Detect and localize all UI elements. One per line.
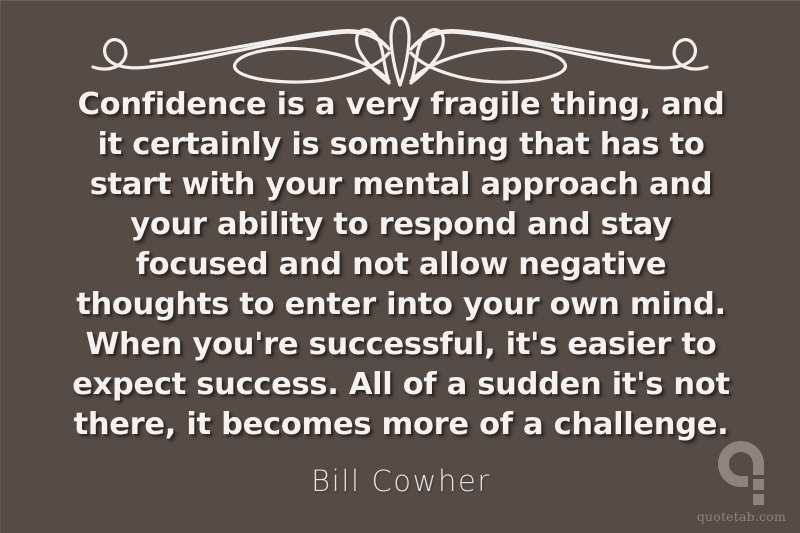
quote-line: start with your mental approach and	[23, 165, 779, 205]
quote-line: When you're successful, it's easier to	[23, 325, 779, 365]
decorative-flourish-icon	[1, 9, 800, 87]
author-name: Bill Cowher	[1, 464, 800, 498]
quote-line: expect success. All of a sudden it's not	[23, 365, 779, 405]
watermark-site-label: quotetab.com	[686, 509, 786, 524]
quote-line: your ability to respond and stay	[23, 205, 779, 245]
quote-line: thoughts to enter into your own mind.	[23, 285, 779, 325]
quote-card: Confidence is a very fragile thing, and …	[0, 0, 800, 533]
quotetab-logo-icon	[718, 441, 780, 507]
quote-text: Confidence is a very fragile thing, and …	[23, 85, 779, 445]
quote-line: Confidence is a very fragile thing, and	[23, 85, 779, 125]
quote-line: there, it becomes more of a challenge.	[23, 405, 779, 445]
quote-line: focused and not allow negative	[23, 245, 779, 285]
quote-line: it certainly is something that has to	[23, 125, 779, 165]
watermark[interactable]: quotetab.com	[684, 437, 792, 529]
